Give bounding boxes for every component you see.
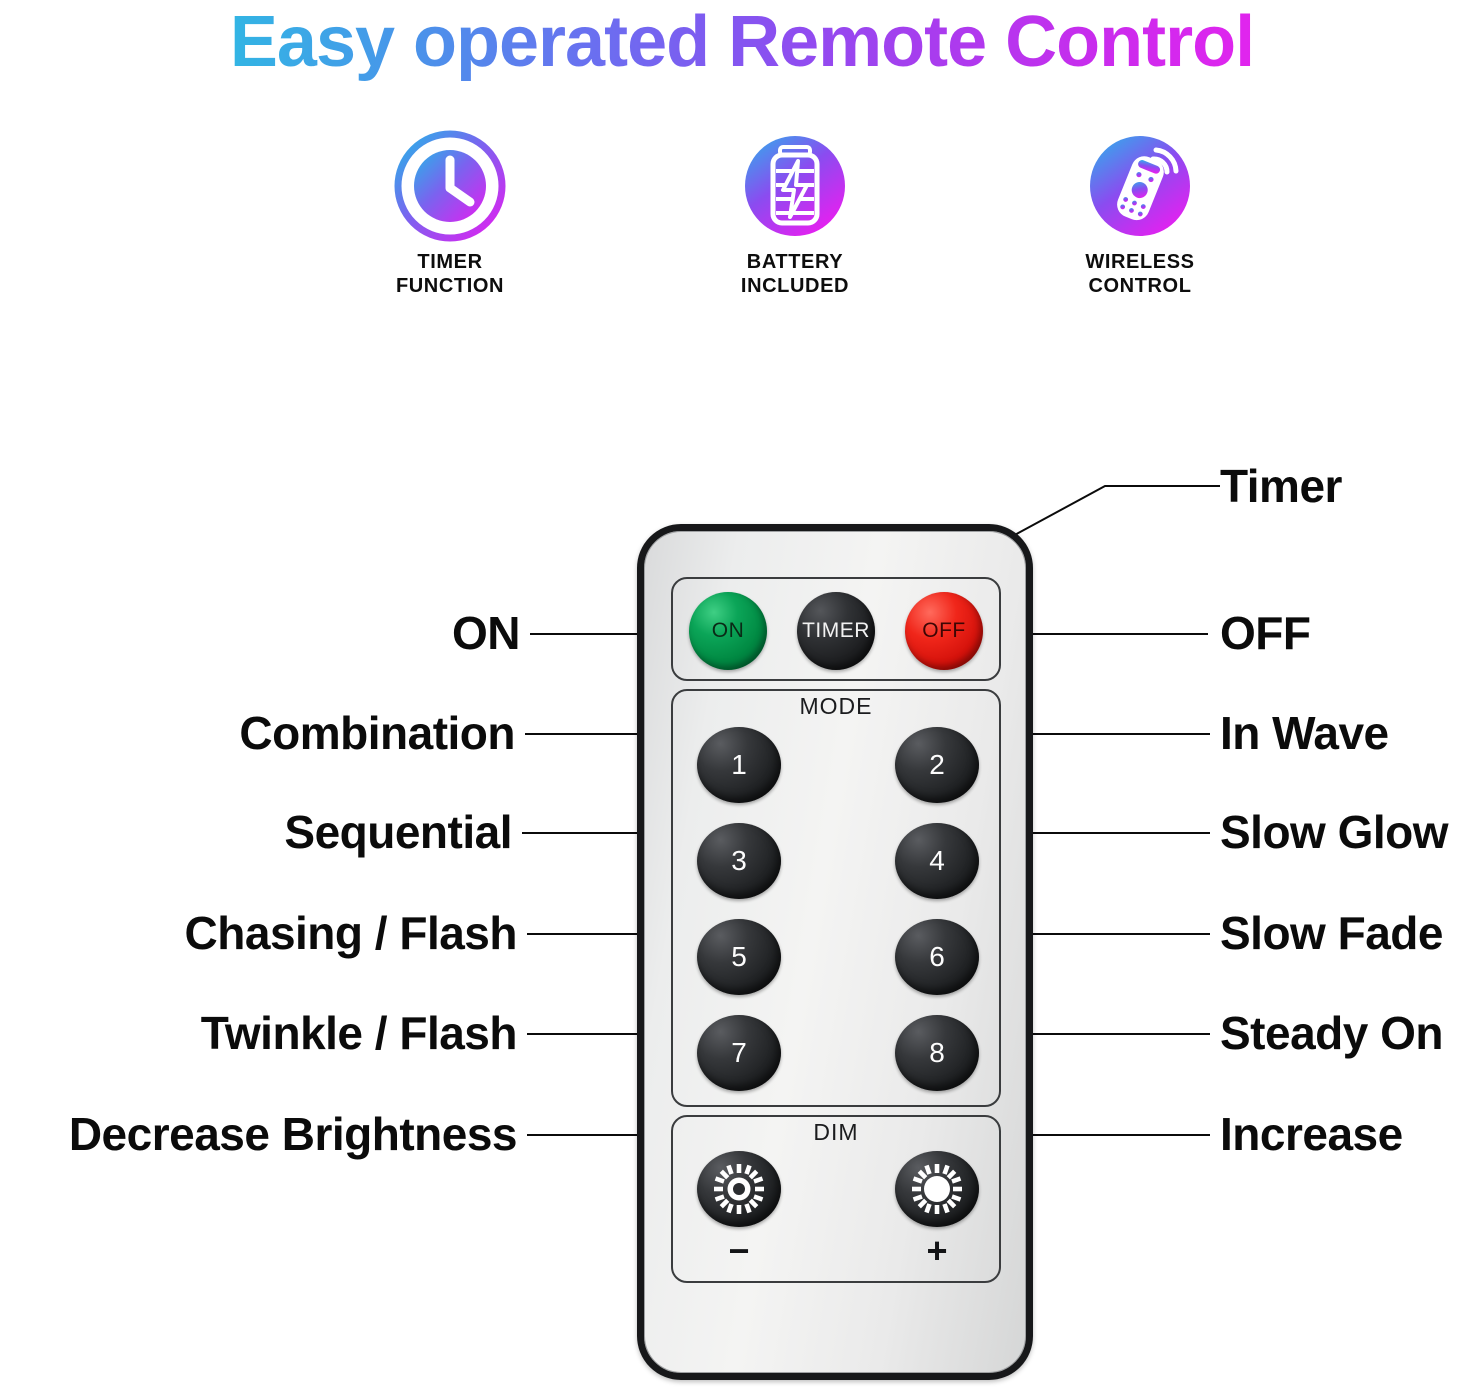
mode-panel: MODE 1 2 3 4 5 6 7 8: [671, 689, 1001, 1107]
feature-battery-included: BATTERY INCLUDED: [645, 130, 945, 330]
callout-increase: Increase: [1220, 1109, 1403, 1159]
feature-label: BATTERY INCLUDED: [741, 250, 849, 298]
callout-combination: Combination: [0, 708, 515, 758]
brightness-high-icon: [910, 1162, 964, 1216]
mode-button-6[interactable]: 6: [895, 919, 979, 995]
power-panel: ON TIMER OFF: [671, 577, 1001, 681]
callout-chasing-flash: Chasing / Flash: [0, 908, 517, 958]
mode-button-3[interactable]: 3: [697, 823, 781, 899]
callout-slow-glow: Slow Glow: [1220, 807, 1448, 857]
timer-button[interactable]: TIMER: [797, 592, 875, 670]
callout-decrease-brightness: Decrease Brightness: [0, 1109, 517, 1159]
dim-minus-sign: −: [697, 1233, 781, 1269]
feature-label: TIMER FUNCTION: [396, 250, 504, 298]
mode-button-5[interactable]: 5: [697, 919, 781, 995]
feature-wireless-control: WIRELESS CONTROL: [990, 130, 1290, 330]
on-button[interactable]: ON: [689, 592, 767, 670]
callout-in-wave: In Wave: [1220, 708, 1389, 758]
callout-slow-fade: Slow Fade: [1220, 908, 1443, 958]
callout-steady-on: Steady On: [1220, 1008, 1443, 1058]
mode-button-4[interactable]: 4: [895, 823, 979, 899]
mode-panel-title: MODE: [673, 693, 999, 720]
dim-increase-button[interactable]: [895, 1151, 979, 1227]
mode-button-2[interactable]: 2: [895, 727, 979, 803]
remote-control-body: ON TIMER OFF MODE 1 2 3 4 5 6 7 8 DIM: [637, 524, 1033, 1380]
brightness-low-icon: [712, 1162, 766, 1216]
callout-twinkle-flash: Twinkle / Flash: [0, 1008, 517, 1058]
clock-icon: [394, 130, 506, 242]
dim-decrease-button[interactable]: [697, 1151, 781, 1227]
callout-timer: Timer: [1220, 461, 1342, 511]
feature-timer-function: TIMER FUNCTION: [300, 130, 600, 330]
remote-icon: [1084, 130, 1196, 242]
mode-button-1[interactable]: 1: [697, 727, 781, 803]
page-title: Easy operated Remote Control: [0, 0, 1484, 84]
feature-label: WIRELESS CONTROL: [1085, 250, 1194, 298]
dim-panel-title: DIM: [673, 1119, 999, 1146]
callout-on: ON: [0, 608, 520, 658]
dim-panel: DIM: [671, 1115, 1001, 1283]
callout-off: OFF: [1220, 608, 1310, 658]
feature-badges: TIMER FUNCTION: [300, 130, 1290, 330]
mode-button-7[interactable]: 7: [697, 1015, 781, 1091]
battery-icon: [739, 130, 851, 242]
off-button[interactable]: OFF: [905, 592, 983, 670]
mode-button-8[interactable]: 8: [895, 1015, 979, 1091]
dim-plus-sign: +: [895, 1233, 979, 1269]
callout-sequential: Sequential: [0, 807, 512, 857]
